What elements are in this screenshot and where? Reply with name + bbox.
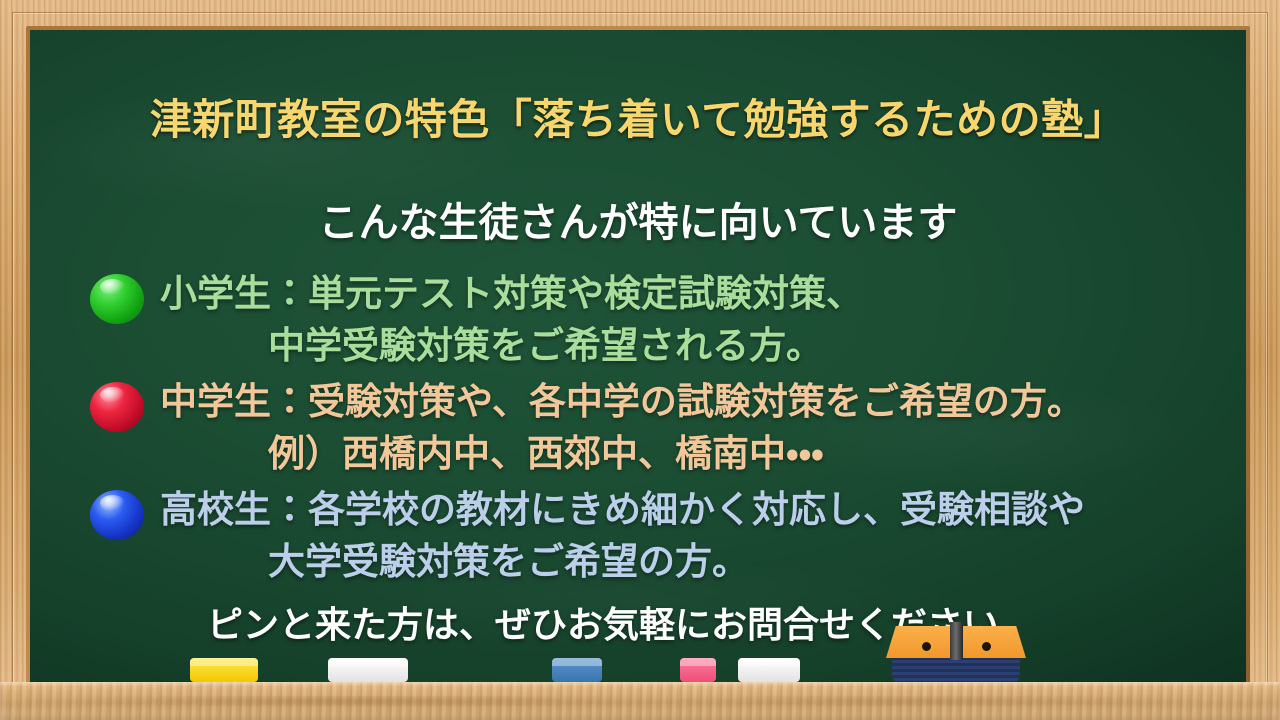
list-item-line-1: 小学生：単元テスト対策や検定試験対策、	[160, 268, 1206, 320]
chalkboard-surface: 津新町教室の特色「落ち着いて勉強するための塾」 こんな生徒さんが特に向いています…	[30, 30, 1246, 682]
chalk-yellow-icon	[190, 658, 258, 682]
eraser-strap	[950, 622, 963, 660]
student-type-list: 小学生：単元テスト対策や検定試験対策、 中学受験対策をご希望される方。 中学生：…	[90, 268, 1206, 592]
list-item-text: 小学生：単元テスト対策や検定試験対策、 中学受験対策をご希望される方。	[90, 268, 1206, 372]
tray-wood-grain	[0, 696, 1280, 706]
eraser-rivet-left	[922, 642, 931, 651]
call-to-action-text: ピンと来た方は、ぜひお気軽にお問合せください	[30, 596, 1246, 648]
list-item-line-2: 大学受験対策をご希望の方。	[160, 536, 1206, 588]
list-item: 小学生：単元テスト対策や検定試験対策、 中学受験対策をご希望される方。	[90, 268, 1206, 372]
list-item-text: 中学生：受験対策や、各中学の試験対策をご希望の方。 例）西橋内中、西郊中、橋南中…	[90, 376, 1206, 480]
list-item: 中学生：受験対策や、各中学の試験対策をご希望の方。 例）西橋内中、西郊中、橋南中…	[90, 376, 1206, 480]
blackboard-eraser-icon	[886, 626, 1026, 682]
page-title: 津新町教室の特色「落ち着いて勉強するための塾」	[30, 86, 1246, 147]
blackboard-frame: 津新町教室の特色「落ち着いて勉強するための塾」 こんな生徒さんが特に向いています…	[0, 0, 1280, 720]
list-item-line-2: 例）西橋内中、西郊中、橋南中・・・	[160, 428, 1206, 480]
list-item-line-2: 中学受験対策をご希望される方。	[160, 320, 1206, 372]
chalk-white-1-icon	[328, 658, 408, 682]
list-item-line-1: 中学生：受験対策や、各中学の試験対策をご希望の方。	[160, 376, 1206, 428]
chalk-blue-icon	[552, 658, 602, 682]
green-bullet-icon	[90, 274, 144, 324]
page-subtitle: こんな生徒さんが特に向いています	[30, 190, 1246, 248]
list-item-line-1: 高校生：各学校の教材にきめ細かく対応し、受験相談や	[160, 484, 1206, 536]
chalk-white-2-icon	[738, 658, 800, 682]
list-item-text: 高校生：各学校の教材にきめ細かく対応し、受験相談や 大学受験対策をご希望の方。	[90, 484, 1206, 588]
eraser-rivet-right	[982, 642, 991, 651]
list-item: 高校生：各学校の教材にきめ細かく対応し、受験相談や 大学受験対策をご希望の方。	[90, 484, 1206, 588]
chalk-pink-icon	[680, 658, 716, 682]
blue-bullet-icon	[90, 490, 144, 540]
chalk-tray	[0, 682, 1280, 720]
red-bullet-icon	[90, 382, 144, 432]
